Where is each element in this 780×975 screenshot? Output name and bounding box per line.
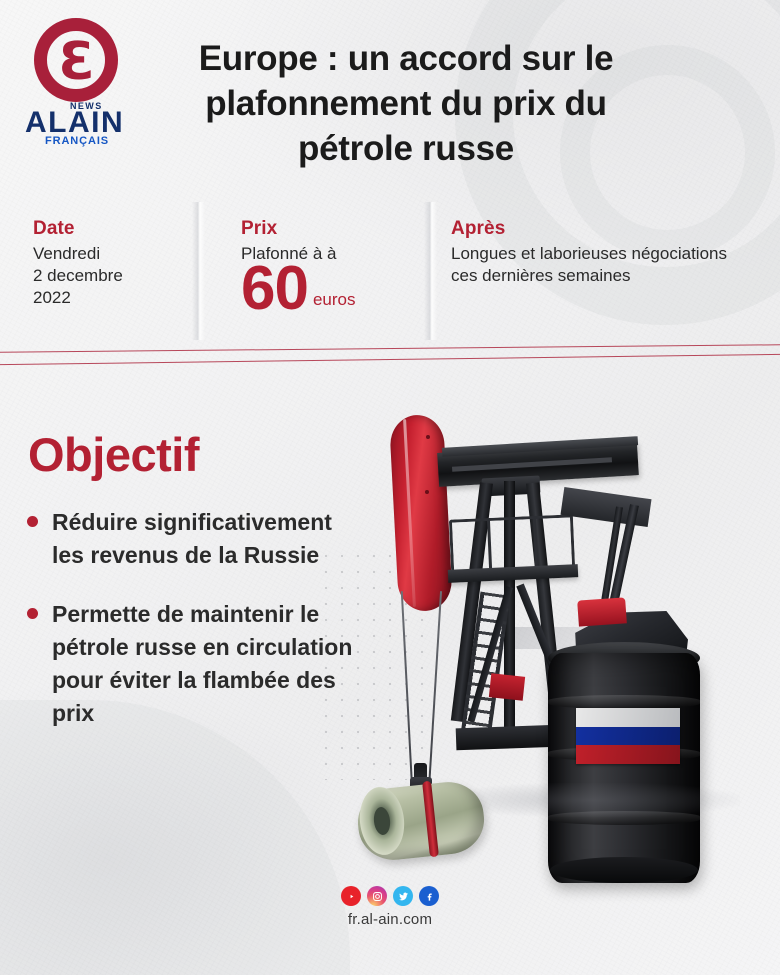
column-divider-1 — [192, 202, 205, 340]
fact-date-line-2: 2 decembre — [33, 265, 183, 287]
objective-list: Réduire significativement les revenus de… — [24, 506, 364, 756]
bullet-dot-icon — [27, 516, 38, 527]
artwork-oil-scene — [330, 395, 780, 875]
social-links — [0, 886, 780, 906]
flag-band-white — [576, 708, 680, 727]
footer: fr.al-ain.com — [0, 886, 780, 928]
objective-bullet-1: Réduire significativement les revenus de… — [52, 506, 364, 572]
fact-after-body: Longues et laborieuses négociations ces … — [451, 243, 741, 287]
fact-price: Prix Plafonné à à 60euros — [241, 218, 421, 320]
barrel-rib — [548, 695, 700, 709]
base-red-accent — [489, 673, 525, 700]
website-url[interactable]: fr.al-ain.com — [0, 911, 780, 928]
bridle-cable — [428, 591, 442, 789]
divider-line-2 — [0, 354, 780, 366]
fact-price-unit: euros — [313, 290, 356, 310]
crank-red-cap — [577, 597, 627, 626]
bullet-dot-icon — [27, 608, 38, 619]
flag-band-blue — [576, 727, 680, 746]
flag-band-red — [576, 745, 680, 764]
fact-date-heading: Date — [33, 218, 183, 240]
platform-railing — [449, 514, 575, 571]
fact-after-heading: Après — [451, 218, 741, 240]
oil-barrel — [548, 653, 700, 883]
list-item: Réduire significativement les revenus de… — [24, 506, 364, 572]
fact-date-line-1: Vendredi — [33, 243, 183, 265]
divider-line-1 — [0, 344, 780, 353]
facts-row: Date Vendredi 2 decembre 2022 Prix Plafo… — [0, 218, 780, 333]
fact-date: Date Vendredi 2 decembre 2022 — [33, 218, 183, 309]
fact-price-heading: Prix — [241, 218, 421, 240]
logo-monogram-icon: 3 — [54, 38, 98, 88]
logo-language-label: FRANÇAIS — [45, 135, 109, 147]
twitter-icon[interactable] — [393, 886, 413, 906]
brand-logo[interactable]: 3 NEWS ALAIN FRANÇAIS — [18, 18, 130, 136]
oil-barrel-base — [550, 857, 698, 883]
fact-price-amount: 60 — [241, 258, 308, 320]
infographic-poster: 3 NEWS ALAIN FRANÇAIS Europe : un accord… — [0, 0, 780, 975]
bridle-cable — [401, 591, 413, 791]
counterweight-bolt — [425, 490, 429, 494]
fact-date-line-3: 2022 — [33, 287, 183, 309]
instagram-icon[interactable] — [367, 886, 387, 906]
pumpjack-counterweight — [389, 414, 453, 613]
youtube-icon[interactable] — [341, 886, 361, 906]
list-item: Permette de maintenir le pétrole russe e… — [24, 598, 364, 730]
russia-flag-icon — [576, 708, 680, 764]
ground-shadow — [440, 783, 740, 817]
page-title: Europe : un accord sur le plafonnement d… — [152, 36, 660, 171]
counterweight-bolt — [426, 435, 430, 439]
column-divider-2 — [424, 202, 437, 340]
objective-title: Objectif — [28, 427, 199, 482]
fact-after: Après Longues et laborieuses négociation… — [451, 218, 741, 287]
objective-bullet-2: Permette de maintenir le pétrole russe e… — [52, 598, 364, 730]
section-divider — [0, 336, 780, 370]
facebook-icon[interactable] — [419, 886, 439, 906]
